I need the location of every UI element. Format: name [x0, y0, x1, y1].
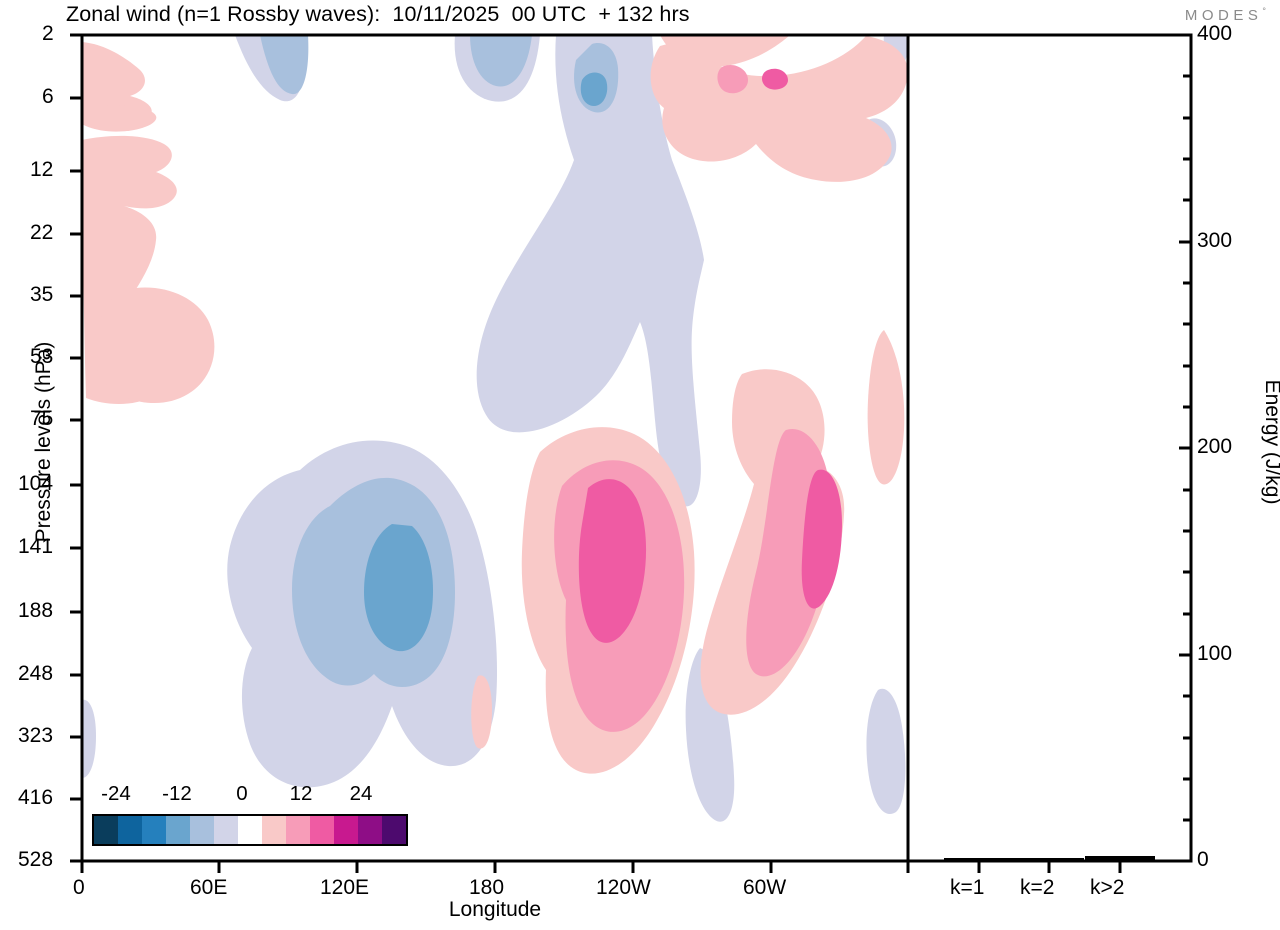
xtick-60e: 60E [190, 876, 227, 900]
energy-bar-k1 [944, 858, 1014, 861]
colorbar-swatch-3 [166, 816, 190, 844]
xtick-60w: 60W [743, 876, 786, 900]
y2tick-0: 0 [1197, 848, 1209, 872]
y2tick-200: 200 [1197, 435, 1232, 459]
xtick-0: 0 [73, 876, 85, 900]
contour-field [82, 35, 908, 822]
colorbar-swatch-11 [358, 816, 382, 844]
energy-bar-k2 [1014, 858, 1084, 861]
ytick-6: 6 [42, 85, 54, 109]
k-label-1: k=1 [950, 876, 984, 900]
colorbar-swatch-4 [190, 816, 214, 844]
colorbar-legend: -24 -12 0 12 24 [92, 782, 408, 846]
x-axis-title: Longitude [82, 898, 908, 922]
ytick-416: 416 [18, 786, 53, 810]
ytick-12: 12 [30, 158, 53, 182]
k-axis-ticks [979, 861, 1120, 873]
k-label-gt2: k>2 [1090, 876, 1124, 900]
ytick-2: 2 [42, 22, 54, 46]
colorbar-swatch-9 [310, 816, 334, 844]
colorbar-swatch-5 [214, 816, 238, 844]
colorbar-swatch-7 [262, 816, 286, 844]
colorbar-swatch-6 [238, 816, 262, 844]
cbar-tick-12: 12 [273, 782, 329, 806]
y2tick-100: 100 [1197, 642, 1232, 666]
y2tick-400: 400 [1197, 22, 1232, 46]
ytick-248: 248 [18, 662, 53, 686]
ytick-528: 528 [18, 848, 53, 872]
energy-panel-frame [908, 35, 1191, 861]
cbar-tick-24: 24 [333, 782, 389, 806]
colorbar-swatch-12 [382, 816, 406, 844]
ytick-22: 22 [30, 221, 53, 245]
y-axis-title: Pressure levels (hPa) [32, 312, 56, 572]
energy-bar-kgt2 [1085, 856, 1155, 861]
k-label-2: k=2 [1020, 876, 1054, 900]
colorbar-swatch-0 [94, 816, 118, 844]
cbar-tick--12: -12 [149, 782, 205, 806]
ytick-188: 188 [18, 599, 53, 623]
cbar-tick-0: 0 [214, 782, 270, 806]
y2-axis-ticks [1179, 35, 1191, 861]
colorbar-swatch-1 [118, 816, 142, 844]
xtick-120w: 120W [596, 876, 651, 900]
ytick-323: 323 [18, 724, 53, 748]
x-axis-ticks [82, 861, 908, 873]
cbar-tick--24: -24 [88, 782, 144, 806]
colorbar-swatch-8 [286, 816, 310, 844]
ytick-35: 35 [30, 283, 53, 307]
xtick-120e: 120E [320, 876, 369, 900]
colorbar-swatch-10 [334, 816, 358, 844]
y2tick-300: 300 [1197, 229, 1232, 253]
colorbar-swatch-2 [142, 816, 166, 844]
y-axis-ticks [70, 35, 82, 861]
colorbar-swatches [92, 814, 408, 846]
xtick-180: 180 [469, 876, 504, 900]
energy-bars [944, 856, 1155, 861]
y2-axis-title: Energy (J/kg) [1260, 312, 1280, 572]
